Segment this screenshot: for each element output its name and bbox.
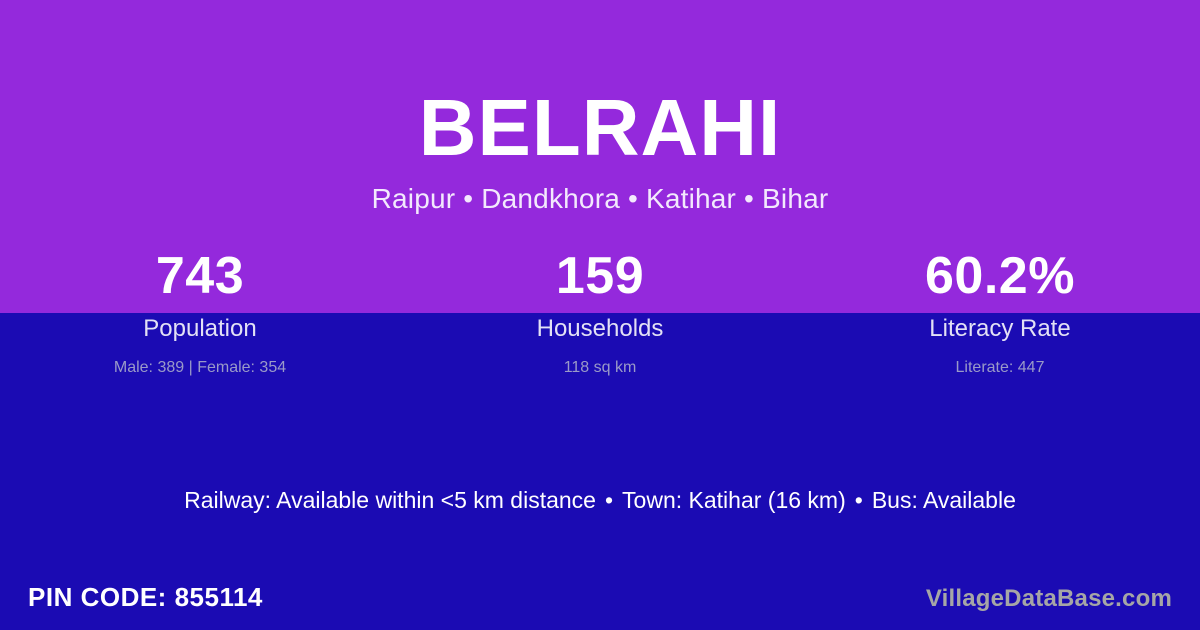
stat-households: 159 Households 118 sq km xyxy=(400,248,800,377)
stat-sub-literacy-rate: Literate: 447 xyxy=(800,358,1200,377)
stat-sub-population: Male: 389 | Female: 354 xyxy=(0,358,400,377)
amenity-separator-2: • xyxy=(846,487,872,513)
stat-literacy-rate: 60.2% Literacy Rate Literate: 447 xyxy=(800,248,1200,377)
amenities-row: Railway: Available within <5 km distance… xyxy=(0,486,1200,516)
stats-row: 743 Population Male: 389 | Female: 354 1… xyxy=(0,248,1200,377)
pin-code: PIN CODE: 855114 xyxy=(28,582,263,613)
site-brand: VillageDataBase.com xyxy=(926,585,1172,614)
stat-label-households: Households xyxy=(400,315,800,344)
stat-value-literacy-rate: 60.2% xyxy=(800,248,1200,310)
card-footer: PIN CODE: 855114 VillageDataBase.com xyxy=(0,582,1200,630)
stat-value-households: 159 xyxy=(400,248,800,310)
breadcrumb: Raipur • Dandkhora • Katihar • Bihar xyxy=(0,182,1200,216)
amenity-town: Town: Katihar (16 km) xyxy=(622,487,846,513)
amenity-railway: Railway: Available within <5 km distance xyxy=(184,487,596,513)
stat-value-population: 743 xyxy=(0,248,400,310)
stat-label-literacy-rate: Literacy Rate xyxy=(800,315,1200,344)
stat-sub-households: 118 sq km xyxy=(400,358,800,377)
stat-label-population: Population xyxy=(0,315,400,344)
amenity-bus: Bus: Available xyxy=(872,487,1016,513)
amenity-separator-1: • xyxy=(596,487,622,513)
village-info-card: BELRAHI Raipur • Dandkhora • Katihar • B… xyxy=(0,0,1200,630)
stat-population: 743 Population Male: 389 | Female: 354 xyxy=(0,248,400,377)
page-title: BELRAHI xyxy=(0,88,1200,168)
